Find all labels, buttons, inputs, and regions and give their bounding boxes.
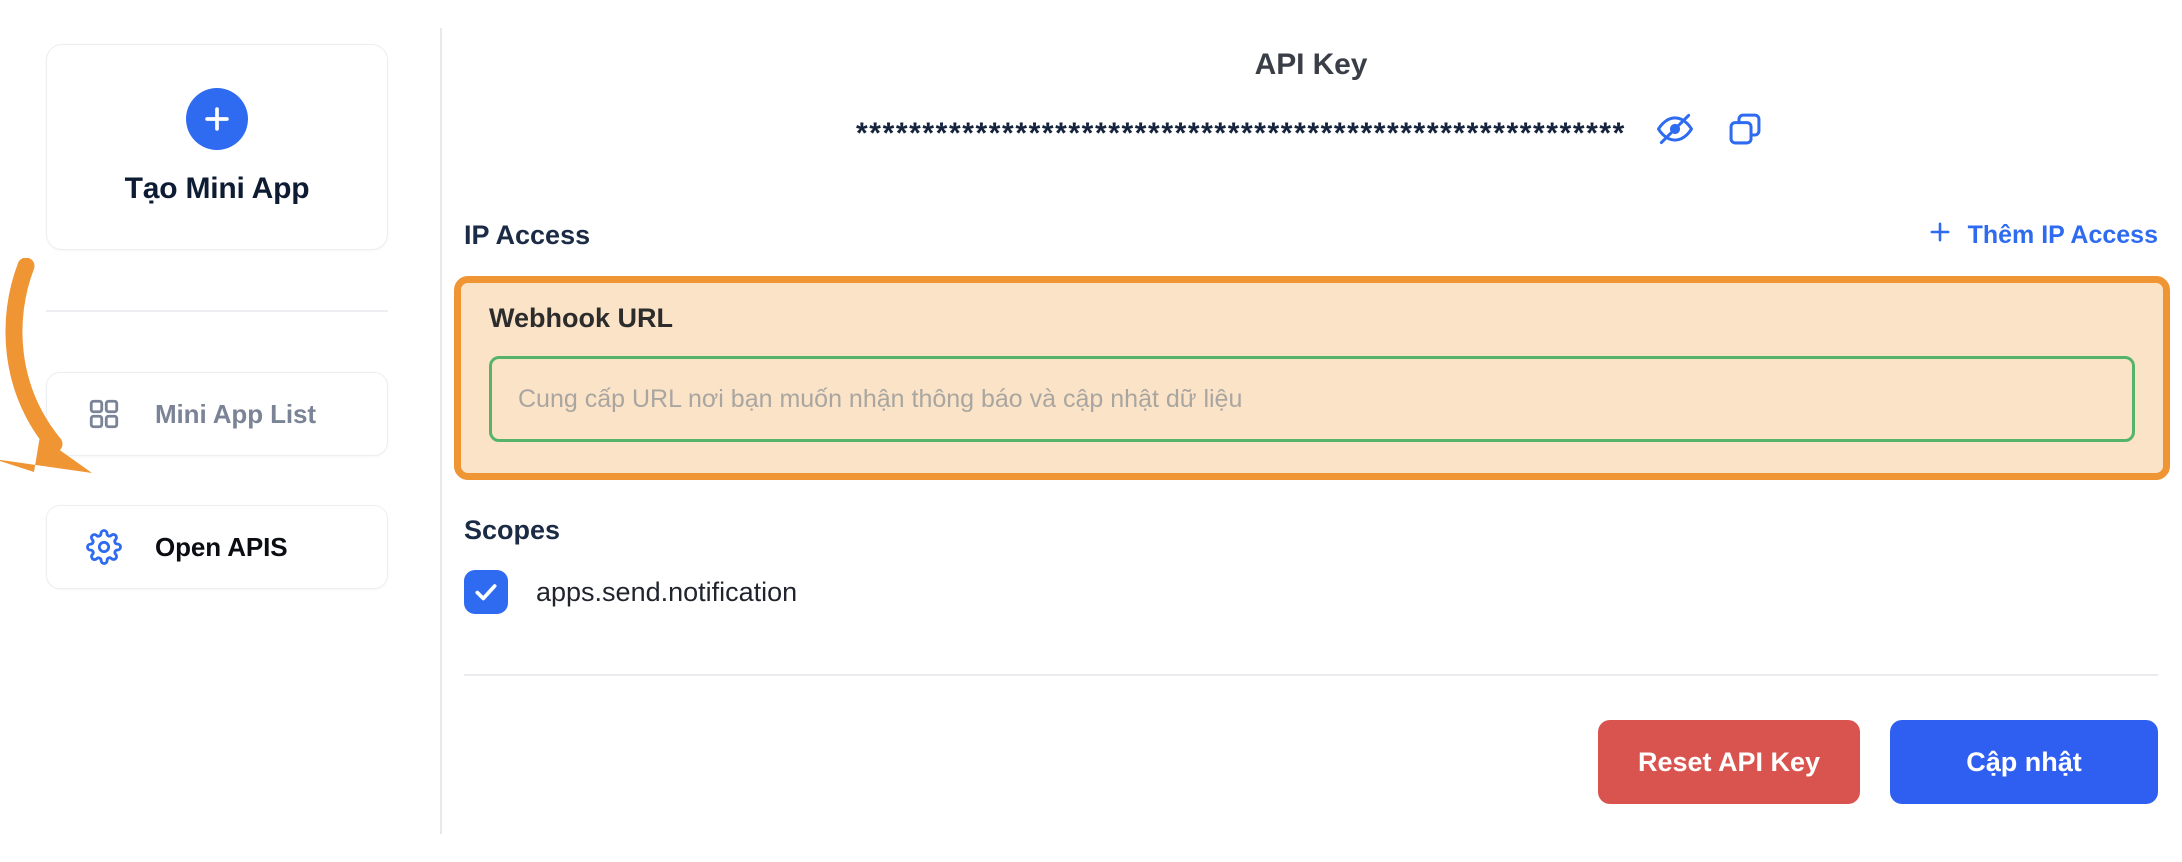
action-buttons: Reset API Key Cập nhật [1598,720,2158,804]
api-key-masked-value: ****************************************… [856,109,1626,149]
add-ip-access-button[interactable]: Thêm IP Access [1926,218,2158,253]
section-divider [464,674,2158,676]
add-ip-access-label: Thêm IP Access [1968,221,2158,250]
scope-checkbox[interactable] [464,570,508,614]
plus-icon [1926,218,1954,253]
gear-icon [85,528,123,566]
update-button[interactable]: Cập nhật [1890,720,2158,804]
webhook-url-highlight-box: Webhook URL [454,276,2170,480]
create-mini-app-label: Tạo Mini App [125,172,310,206]
eye-off-icon[interactable] [1654,108,1696,150]
scope-label: apps.send.notification [536,577,797,608]
sidebar-item-mini-app-list[interactable]: Mini App List [46,372,388,456]
scope-item: apps.send.notification [464,570,797,614]
webhook-url-label: Webhook URL [489,303,2135,334]
ip-access-row: IP Access Thêm IP Access [464,218,2158,253]
main-content: API Key ********************************… [440,0,2182,862]
api-key-row: ****************************************… [440,108,2182,150]
sidebar-divider [46,310,388,312]
create-mini-app-card[interactable]: Tạo Mini App [46,44,388,250]
reset-api-key-button[interactable]: Reset API Key [1598,720,1860,804]
sidebar-item-open-apis-label: Open APIS [155,532,288,563]
grid-icon [85,395,123,433]
scopes-title: Scopes [464,515,560,546]
sidebar: Tạo Mini App Mini App List Ope [0,0,440,862]
api-key-settings-page: Tạo Mini App Mini App List Ope [0,0,2182,862]
sidebar-item-open-apis[interactable]: Open APIS [46,505,388,589]
sidebar-item-mini-app-list-label: Mini App List [155,399,316,430]
webhook-url-input[interactable] [489,356,2135,442]
copy-icon[interactable] [1724,108,1766,150]
ip-access-label: IP Access [464,220,590,251]
page-title: API Key [440,48,2182,82]
plus-icon [186,88,248,150]
